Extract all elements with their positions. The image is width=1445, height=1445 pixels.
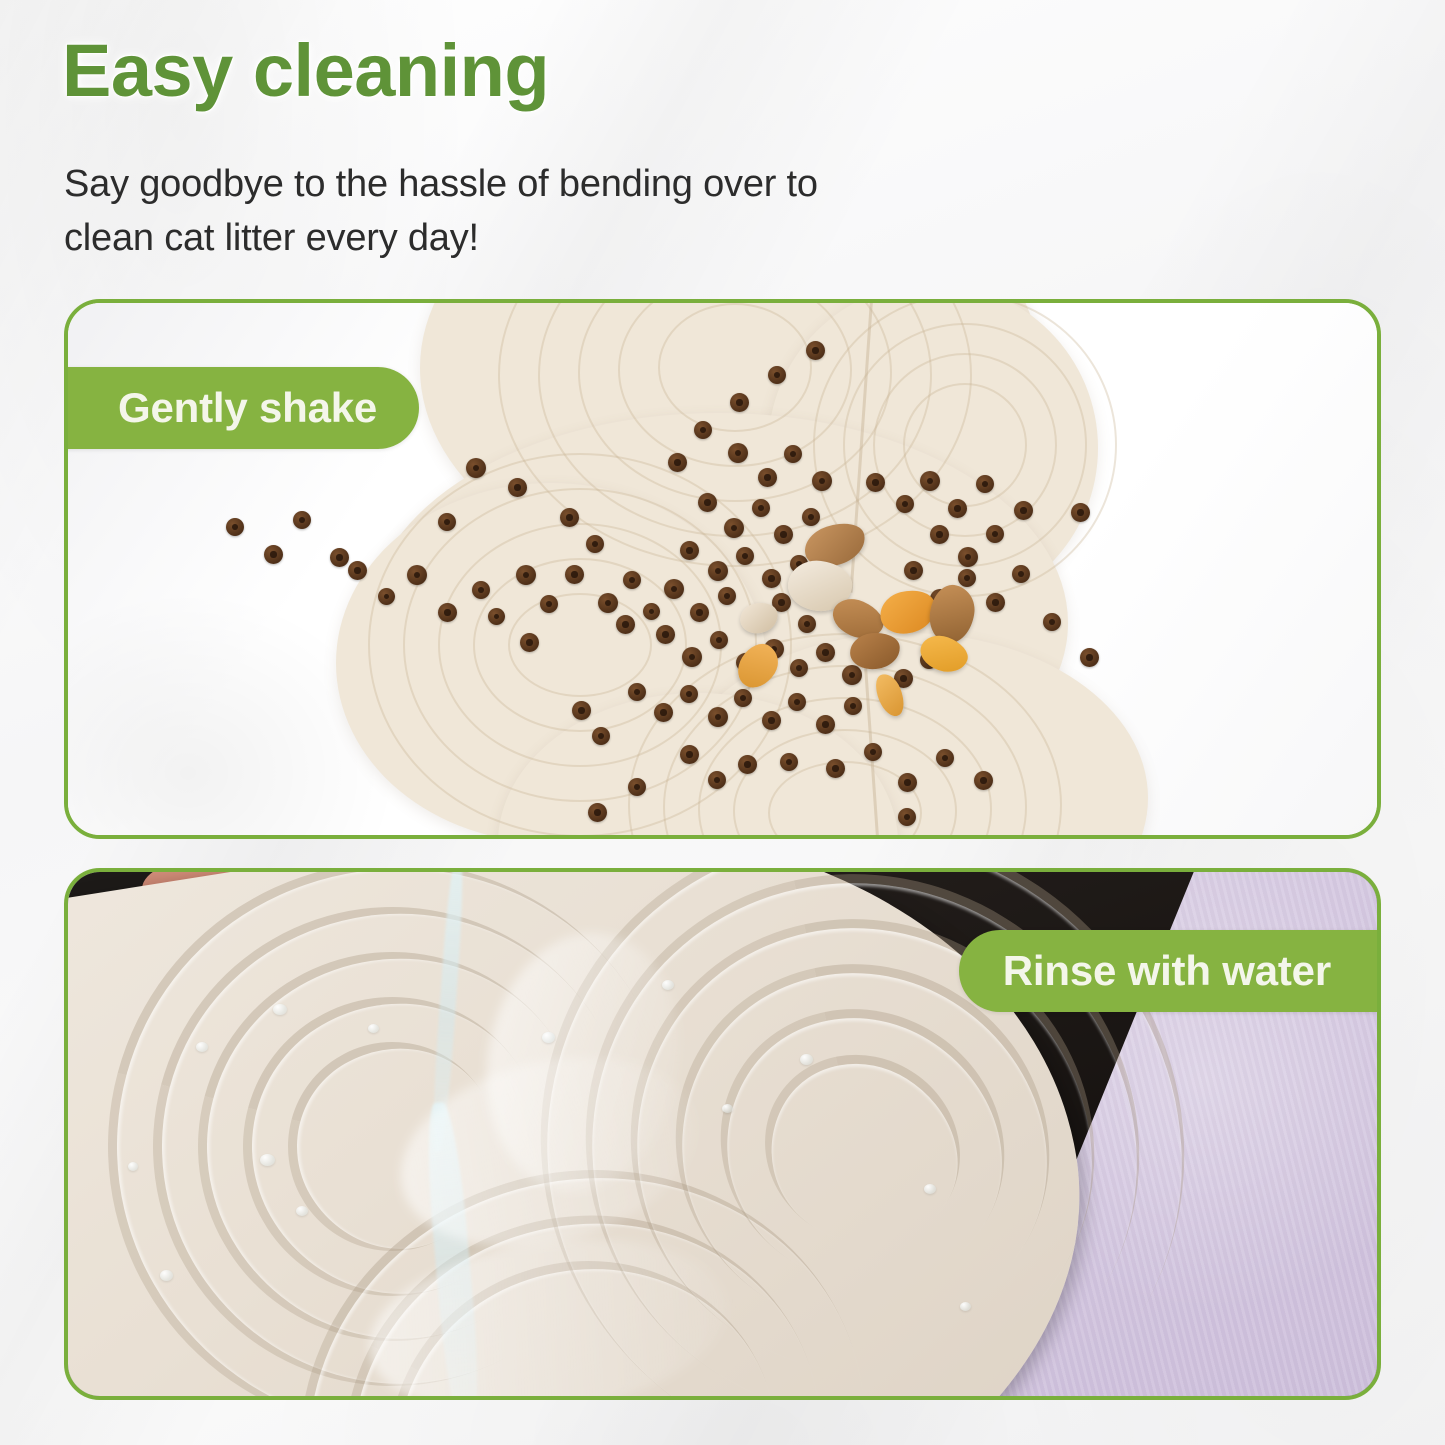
kibble-pellet bbox=[516, 565, 536, 585]
kibble-pellet bbox=[708, 707, 728, 727]
kibble-pellet bbox=[664, 579, 684, 599]
kibble-pellet bbox=[728, 443, 748, 463]
kibble-pellet bbox=[974, 771, 993, 790]
kibble-pellet bbox=[472, 581, 490, 599]
water-droplet bbox=[662, 980, 674, 990]
kibble-pellet bbox=[774, 525, 793, 544]
kibble-pellet bbox=[904, 561, 923, 580]
kibble-pellet bbox=[628, 683, 646, 701]
kibble-pellet bbox=[586, 535, 604, 553]
kibble-pellet bbox=[710, 631, 728, 649]
kibble-pellet bbox=[780, 753, 798, 771]
kibble-pellet bbox=[958, 547, 978, 567]
kibble-pellet bbox=[930, 525, 949, 544]
kibble-pellet bbox=[798, 615, 816, 633]
kibble-pellet bbox=[656, 625, 675, 644]
kibble-pellet bbox=[628, 778, 646, 796]
kibble-pellet bbox=[623, 571, 641, 589]
kibble-pellet bbox=[348, 561, 367, 580]
kibble-pellet bbox=[718, 587, 736, 605]
kibble-pellet bbox=[1014, 501, 1033, 520]
kibble-pellet bbox=[565, 565, 584, 584]
mat-ridge-ring bbox=[658, 303, 812, 432]
kibble-pellet bbox=[560, 508, 579, 527]
water-droplet bbox=[800, 1054, 813, 1065]
kibble-pellet bbox=[736, 547, 754, 565]
kibble-pellet bbox=[680, 745, 699, 764]
kibble-pellet bbox=[643, 603, 660, 620]
kibble-pellet bbox=[948, 499, 967, 518]
photo-mat-rinsing: Rinse with water bbox=[68, 872, 1377, 1396]
kibble-pellet bbox=[802, 508, 820, 526]
kibble-pellet bbox=[407, 565, 427, 585]
subtitle-line-2: clean cat litter every day! bbox=[64, 212, 1024, 266]
kibble-pellet bbox=[816, 715, 835, 734]
mat-ridge-ring bbox=[903, 383, 1027, 507]
kibble-pellet bbox=[896, 495, 914, 513]
kibble-pellet bbox=[752, 499, 770, 517]
kibble-pellet bbox=[790, 659, 808, 677]
kibble-pellet bbox=[936, 749, 954, 767]
badge-rinse-with-water-label: Rinse with water bbox=[1003, 947, 1331, 995]
kibble-pellet bbox=[866, 473, 885, 492]
kibble-pellet bbox=[784, 445, 802, 463]
kibble-pellet bbox=[986, 593, 1005, 612]
kibble-pellet bbox=[1043, 613, 1061, 631]
kibble-pellet bbox=[680, 541, 699, 560]
kibble-pellet bbox=[806, 341, 825, 360]
water-droplet bbox=[296, 1206, 308, 1216]
water-droplet bbox=[368, 1024, 379, 1033]
kibble-pellet bbox=[826, 759, 845, 778]
kibble-pellet bbox=[1071, 503, 1090, 522]
water-droplet bbox=[160, 1270, 173, 1281]
water-droplet bbox=[924, 1184, 936, 1194]
kibble-pellet bbox=[588, 803, 607, 822]
kibble-pellet bbox=[812, 471, 832, 491]
kibble-pellet bbox=[708, 771, 726, 789]
water-droplet bbox=[960, 1302, 971, 1311]
kibble-pellet bbox=[682, 647, 702, 667]
kibble-pellet bbox=[264, 545, 283, 564]
kibble-pellet bbox=[734, 689, 752, 707]
kibble-pellet bbox=[654, 703, 673, 722]
kibble-pellet bbox=[668, 453, 687, 472]
water-droplet bbox=[260, 1154, 275, 1166]
kibble-pellet bbox=[592, 727, 610, 745]
water-droplet bbox=[196, 1042, 208, 1052]
kibble-pellet bbox=[758, 468, 777, 487]
kibble-pellet bbox=[842, 665, 862, 685]
kibble-pellet bbox=[520, 633, 539, 652]
water-droplet bbox=[722, 1104, 733, 1113]
kibble-pellet bbox=[844, 697, 862, 715]
kibble-pellet bbox=[598, 593, 618, 613]
page-title: Easy cleaning bbox=[62, 34, 549, 108]
kibble-pellet bbox=[698, 493, 717, 512]
kibble-pellet bbox=[690, 603, 709, 622]
water-droplet bbox=[542, 1032, 555, 1043]
kibble-pellet bbox=[438, 603, 457, 622]
kibble-pellet bbox=[920, 471, 940, 491]
kibble-pellet bbox=[768, 366, 786, 384]
kibble-pellet bbox=[488, 608, 505, 625]
step-card-gently-shake: Gently shake bbox=[64, 299, 1381, 839]
kibble-pellet bbox=[694, 421, 712, 439]
badge-gently-shake-label: Gently shake bbox=[118, 384, 377, 432]
kibble-pellet bbox=[864, 743, 882, 761]
water-droplet bbox=[128, 1162, 138, 1171]
kibble-pellet bbox=[226, 518, 244, 536]
kibble-pellet bbox=[708, 561, 728, 581]
kibble-pellet bbox=[730, 393, 749, 412]
kibble-pellet bbox=[540, 595, 558, 613]
page-subtitle: Say goodbye to the hassle of bending ove… bbox=[64, 158, 1024, 266]
kibble-pellet bbox=[508, 478, 527, 497]
kibble-pellet bbox=[816, 643, 835, 662]
water-droplet bbox=[273, 1004, 287, 1015]
kibble-pellet bbox=[466, 458, 486, 478]
subtitle-line-1: Say goodbye to the hassle of bending ove… bbox=[64, 158, 1024, 212]
badge-gently-shake[interactable]: Gently shake bbox=[68, 367, 419, 449]
kibble-pellet bbox=[986, 525, 1004, 543]
badge-rinse-with-water[interactable]: Rinse with water bbox=[959, 930, 1377, 1012]
kibble-pellet bbox=[572, 701, 591, 720]
kibble-pellet bbox=[898, 808, 916, 826]
kibble-pellet bbox=[293, 511, 311, 529]
kibble-pellet bbox=[762, 711, 781, 730]
photo-mat-with-kibble: Gently shake bbox=[68, 303, 1377, 835]
kibble-pellet bbox=[738, 755, 757, 774]
step-card-rinse-with-water: Rinse with water bbox=[64, 868, 1381, 1400]
kibble-pellet bbox=[724, 518, 744, 538]
kibble-pellet bbox=[898, 773, 917, 792]
kibble-pellet bbox=[378, 588, 395, 605]
kibble-pellet bbox=[958, 569, 976, 587]
kibble-pellet bbox=[1012, 565, 1030, 583]
infographic-page: Easy cleaning Say goodbye to the hassle … bbox=[0, 0, 1445, 1445]
kibble-pellet bbox=[680, 685, 698, 703]
kibble-pellet bbox=[788, 693, 806, 711]
kibble-pellet bbox=[330, 548, 349, 567]
kibble-pellet bbox=[762, 569, 781, 588]
kibble-pellet bbox=[976, 475, 994, 493]
kibble-pellet bbox=[1080, 648, 1099, 667]
kibble-pellet bbox=[616, 615, 635, 634]
kibble-pellet bbox=[438, 513, 456, 531]
